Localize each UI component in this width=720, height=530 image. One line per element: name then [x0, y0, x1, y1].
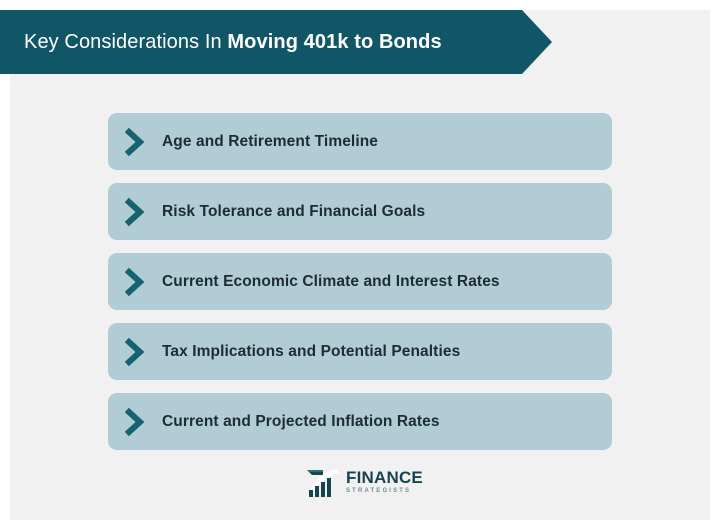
chevron-right-icon [122, 267, 148, 297]
page-title-bold: Moving 401k to Bonds [227, 31, 441, 53]
logo-wordmark: FINANCE [346, 469, 423, 486]
considerations-list: Age and Retirement Timeline Risk Toleran… [108, 113, 612, 463]
page-title: Key Considerations In Moving 401k to Bon… [24, 30, 442, 54]
list-item[interactable]: Current and Projected Inflation Rates [108, 393, 612, 450]
list-item[interactable]: Current Economic Climate and Interest Ra… [108, 253, 612, 310]
list-item-label: Tax Implications and Potential Penalties [162, 342, 460, 362]
list-item[interactable]: Tax Implications and Potential Penalties [108, 323, 612, 380]
chevron-right-icon [122, 407, 148, 437]
infographic-root: Key Considerations In Moving 401k to Bon… [0, 0, 720, 530]
chevron-right-icon [122, 127, 148, 157]
list-item-label: Current and Projected Inflation Rates [162, 412, 440, 432]
finance-strategists-bar-chart-icon [306, 466, 342, 498]
list-item-label: Age and Retirement Timeline [162, 132, 378, 152]
finance-strategists-logo: FINANCE STRATEGISTS [306, 464, 430, 500]
list-item[interactable]: Age and Retirement Timeline [108, 113, 612, 170]
chevron-right-icon [122, 197, 148, 227]
list-item[interactable]: Risk Tolerance and Financial Goals [108, 183, 612, 240]
logo-text: FINANCE STRATEGISTS [346, 469, 423, 495]
page-title-normal: Key Considerations In [24, 31, 227, 53]
logo-subtitle: STRATEGISTS [346, 487, 423, 495]
list-item-label: Risk Tolerance and Financial Goals [162, 202, 425, 222]
chevron-right-icon [122, 337, 148, 367]
header-banner: Key Considerations In Moving 401k to Bon… [0, 10, 552, 74]
list-item-label: Current Economic Climate and Interest Ra… [162, 272, 500, 292]
